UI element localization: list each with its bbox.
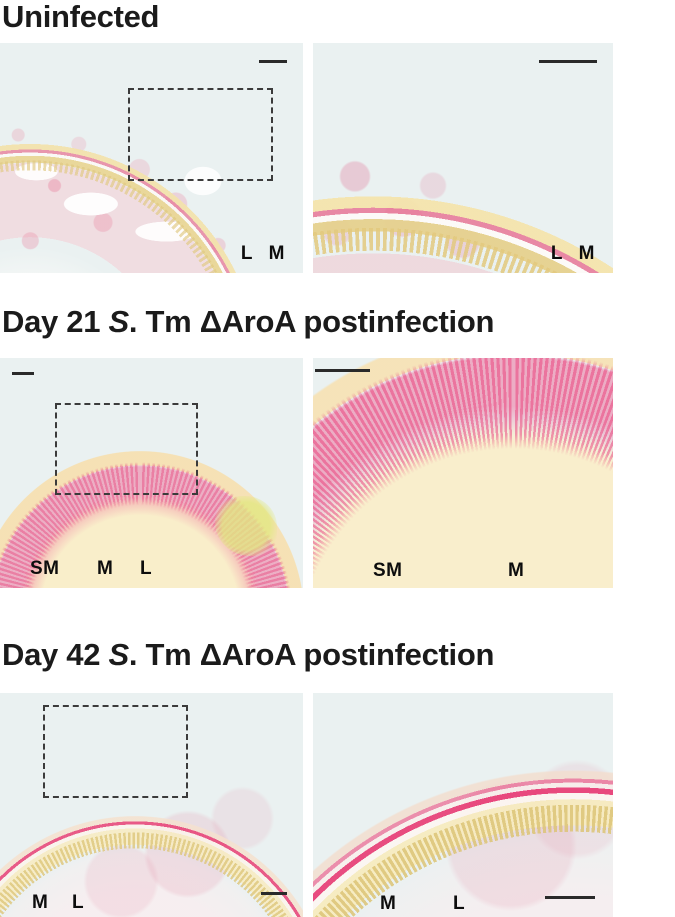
row-title-italic: S bbox=[108, 637, 128, 672]
figure-row-day21: Day 21 S. Tm ΔAroA postinfection SM M L bbox=[0, 305, 675, 600]
tissue-label-SM: SM bbox=[30, 559, 60, 578]
tissue-label-L: L bbox=[551, 244, 563, 263]
scale-bar bbox=[259, 60, 287, 63]
tissue-label-L: L bbox=[72, 893, 84, 912]
row-title-italic: S bbox=[108, 304, 128, 339]
micrograph-row2-inset[interactable]: SM M bbox=[313, 358, 613, 588]
row-title-day42: Day 42 S. Tm ΔAroA postinfection bbox=[2, 638, 494, 671]
row-title-day21: Day 21 S. Tm ΔAroA postinfection bbox=[2, 305, 494, 338]
row-title-uninfected: Uninfected bbox=[2, 0, 159, 33]
figure-row-day42: Day 42 S. Tm ΔAroA postinfection M L bbox=[0, 638, 675, 917]
row-title-prefix: Day 21 bbox=[2, 304, 108, 339]
histology-figure: Uninfected L M bbox=[0, 0, 675, 917]
villi-layer bbox=[313, 43, 613, 273]
scale-bar bbox=[545, 896, 595, 899]
micrograph-row2-overview[interactable]: SM M L bbox=[0, 358, 303, 588]
inset-selection-box[interactable] bbox=[43, 705, 188, 798]
row-title-suffix: . Tm ΔAroA postinfection bbox=[129, 304, 494, 339]
tissue-label-SM: SM bbox=[373, 561, 403, 580]
tissue-label-M: M bbox=[579, 244, 595, 263]
row-title-prefix: Uninfected bbox=[2, 0, 159, 34]
panel-group-day21: SM M L SM M bbox=[0, 358, 613, 588]
tissue-label-L: L bbox=[140, 559, 152, 578]
tissue-label-M: M bbox=[97, 559, 113, 578]
inset-selection-box[interactable] bbox=[55, 403, 198, 495]
panel-group-uninfected: L M L M bbox=[0, 43, 613, 273]
tissue-label-M: M bbox=[32, 893, 48, 912]
inset-selection-box[interactable] bbox=[128, 88, 273, 181]
micrograph-row3-inset[interactable]: M L bbox=[313, 693, 613, 917]
tissue-label-L: L bbox=[241, 244, 253, 263]
tissue-label-L: L bbox=[453, 894, 465, 913]
micrograph-row1-inset[interactable]: L M bbox=[313, 43, 613, 273]
scale-bar bbox=[315, 369, 370, 372]
scale-bar bbox=[12, 372, 34, 375]
tissue-label-M: M bbox=[269, 244, 285, 263]
row-title-prefix: Day 42 bbox=[2, 637, 108, 672]
micrograph-row1-overview[interactable]: L M bbox=[0, 43, 303, 273]
villi-layer bbox=[313, 693, 613, 917]
tissue-label-M: M bbox=[508, 561, 524, 580]
figure-row-uninfected: Uninfected L M bbox=[0, 0, 675, 290]
micrograph-row3-overview[interactable]: M L bbox=[0, 693, 303, 917]
row-title-suffix: . Tm ΔAroA postinfection bbox=[129, 637, 494, 672]
inflammatory-infiltrate bbox=[313, 358, 613, 588]
panel-group-day42: M L M L bbox=[0, 693, 613, 917]
scale-bar bbox=[261, 892, 287, 895]
tissue-label-M: M bbox=[380, 894, 396, 913]
scale-bar bbox=[539, 60, 597, 63]
